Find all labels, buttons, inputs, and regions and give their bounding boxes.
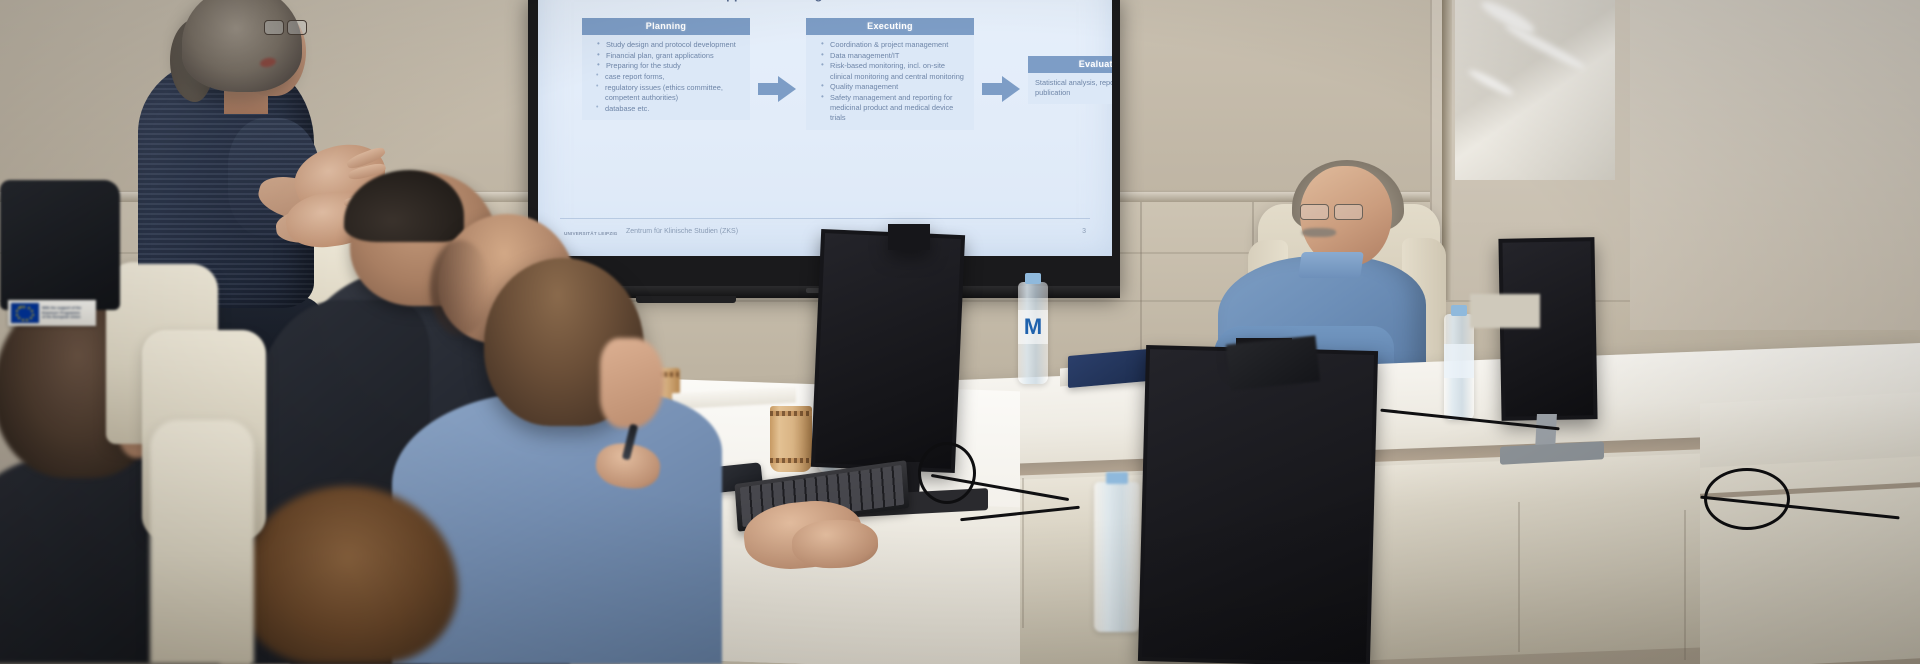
table-panel-seam <box>1022 478 1024 628</box>
attendee-face <box>600 338 664 428</box>
arrow-right-icon <box>982 76 1020 102</box>
screen-mount <box>636 296 736 303</box>
bullet: Coordination & project management <box>823 40 967 50</box>
bullet: Data management/IT <box>823 51 967 61</box>
chair <box>150 420 254 664</box>
cable-loop <box>918 442 976 504</box>
bottle-label: M <box>1018 310 1048 344</box>
bullet: Quality management <box>823 82 967 92</box>
glasses-icon <box>1300 204 1366 218</box>
slide-university-logo: UNIVERSITÄT LEIPZIG <box>564 231 618 237</box>
desktop-monitor[interactable] <box>1498 237 1597 421</box>
laptop-bag <box>0 180 120 310</box>
glasses-icon <box>264 20 306 34</box>
table-panel-seam <box>1518 502 1520 652</box>
slide-page-number: 3 <box>1082 228 1086 235</box>
slide-box-body: Study design and protocol development Fi… <box>582 35 750 120</box>
bullet: Risk-based monitoring, incl. on-site cli… <box>823 61 967 81</box>
slide-box-body: Statistical analysis, reports and public… <box>1028 73 1112 104</box>
box-on-desk <box>1470 294 1540 328</box>
eu-flag-icon <box>11 303 39 323</box>
slide-box-evaluating: Evaluating Statistical analysis, reports… <box>1028 56 1112 104</box>
water-bottle <box>1444 314 1474 420</box>
slide-box-planning: Planning Study design and protocol devel… <box>582 18 750 120</box>
slide-title: support in all stages of a clinical tria… <box>538 0 1112 2</box>
cable-loop <box>1704 468 1790 530</box>
eu-sticker-line-3: of the European Union <box>42 315 81 319</box>
monitor-top-riser <box>888 224 930 250</box>
slide-box-heading: Executing <box>806 18 974 35</box>
monitor-rear <box>1226 335 1320 390</box>
bullet-text: Statistical analysis, reports and public… <box>1035 78 1112 98</box>
attendee-moustache <box>1302 228 1336 237</box>
bottle-label <box>1444 344 1474 378</box>
slide-box-body: Coordination & project management Data m… <box>806 35 974 130</box>
water-bottle: M <box>1018 282 1048 384</box>
eu-erasmus-sticker: With the support of the Erasmus+ Program… <box>8 300 96 326</box>
water-bottle <box>1094 482 1140 632</box>
slide-box-heading: Evaluating <box>1028 56 1112 73</box>
coffee-cup <box>770 406 812 472</box>
wall-far-right-section <box>1630 0 1920 330</box>
glass-panel <box>1455 0 1615 180</box>
slide-footer-rule <box>560 218 1090 219</box>
sub-bullet: database etc. <box>598 104 743 114</box>
eu-sticker-text: With the support of the Erasmus+ Program… <box>42 306 81 319</box>
conference-room-photo: support in all stages of a clinical tria… <box>0 0 1920 664</box>
table-panel-seam <box>1684 510 1686 660</box>
bullet: Financial plan, grant applications <box>599 51 743 61</box>
presentation-slide: support in all stages of a clinical tria… <box>538 0 1112 256</box>
attendee-head-shadow <box>430 240 490 336</box>
slide-box-executing: Executing Coordination & project managem… <box>806 18 974 130</box>
arrow-right-icon <box>758 76 796 102</box>
presenter-hair <box>182 0 302 92</box>
bullet: Study design and protocol development <box>599 40 743 50</box>
sub-bullet: regulatory issues (ethics committee, com… <box>598 83 743 103</box>
slide-box-heading: Planning <box>582 18 750 35</box>
bullet: Safety management and reporting for medi… <box>823 93 967 124</box>
sub-bullet: case report forms, <box>598 72 743 82</box>
desktop-monitor[interactable] <box>1138 345 1378 664</box>
bullet: Preparing for the study <box>599 61 743 71</box>
shirt-collar <box>1298 252 1364 278</box>
desktop-monitor[interactable] <box>811 229 965 473</box>
slide-footer-org: Zentrum für Klinische Studien (ZKS) <box>626 228 738 235</box>
